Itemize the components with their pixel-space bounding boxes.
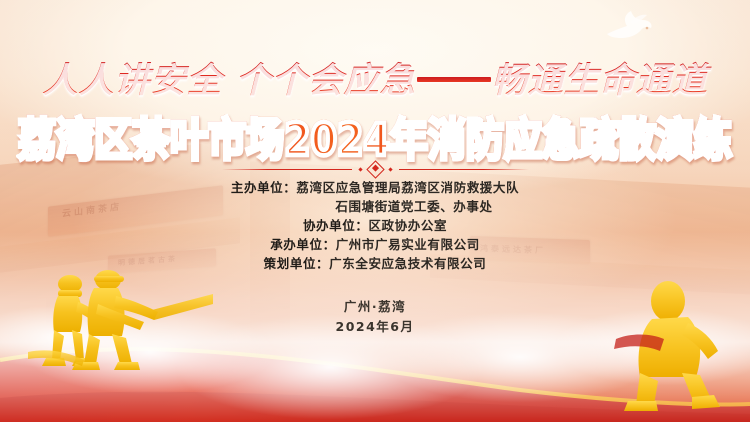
organizer-row: 石围塘街道党工委、办事处 (0, 197, 750, 216)
footer-date: 2024年6月 (0, 317, 750, 337)
page-title-text: 荔湾区茶叶市场2024年消防应急疏散演练 (18, 114, 732, 165)
em-dash-rule (417, 77, 491, 82)
organizer-label: 承办单位： (270, 237, 336, 252)
slogan-part-1: 人人讲安全 个个会应急 (42, 60, 415, 101)
organizer-row: 协办单位：区政协办公室 (0, 216, 750, 235)
poster-footer: 广州·荔湾 2024年6月 (0, 297, 750, 337)
poster-content: 人人讲安全 个个会应急畅通生命通道 荔湾区茶叶市场2024年消防应急疏散演练 主… (0, 0, 750, 422)
organizer-row: 主办单位：荔湾区应急管理局荔湾区消防救援大队 (0, 178, 750, 197)
organizer-value: 石围塘街道党工委、办事处 (335, 199, 492, 214)
divider-line-left (222, 169, 352, 171)
organizer-value-secondary: 荔湾区消防救援大队 (401, 180, 519, 195)
organizer-value: 区政协办公室 (368, 218, 447, 233)
diamond-ornament-divider (0, 163, 750, 176)
divider-dot-left (358, 167, 362, 171)
organizer-value: 广州市广易实业有限公司 (336, 237, 480, 252)
organizer-list: 主办单位：荔湾区应急管理局荔湾区消防救援大队 石围塘街道党工委、办事处 协办单位… (0, 178, 750, 273)
divider-diamond-icon (366, 160, 384, 178)
organizer-row: 承办单位：广州市广易实业有限公司 (0, 235, 750, 254)
organizer-label: 策划单位： (264, 256, 330, 271)
organizer-value: 荔湾区应急管理局 (296, 180, 401, 195)
divider-line-right (399, 169, 529, 171)
page-title: 荔湾区茶叶市场2024年消防应急疏散演练 (0, 104, 750, 168)
slogan-part-2: 畅通生命通道 (492, 60, 708, 101)
poster-slogan: 人人讲安全 个个会应急畅通生命通道 (0, 52, 750, 103)
organizer-value: 广东全安应急技术有限公司 (329, 256, 486, 271)
poster-canvas: 云山南茶店 明德居茗古茶 鸿泰远达茶厂 (0, 0, 750, 422)
divider-dot-right (388, 167, 392, 171)
organizer-label: 协办单位： (303, 218, 369, 233)
organizer-row: 策划单位：广东全安应急技术有限公司 (0, 254, 750, 273)
organizer-label: 主办单位： (231, 180, 297, 195)
footer-location: 广州·荔湾 (0, 297, 750, 317)
